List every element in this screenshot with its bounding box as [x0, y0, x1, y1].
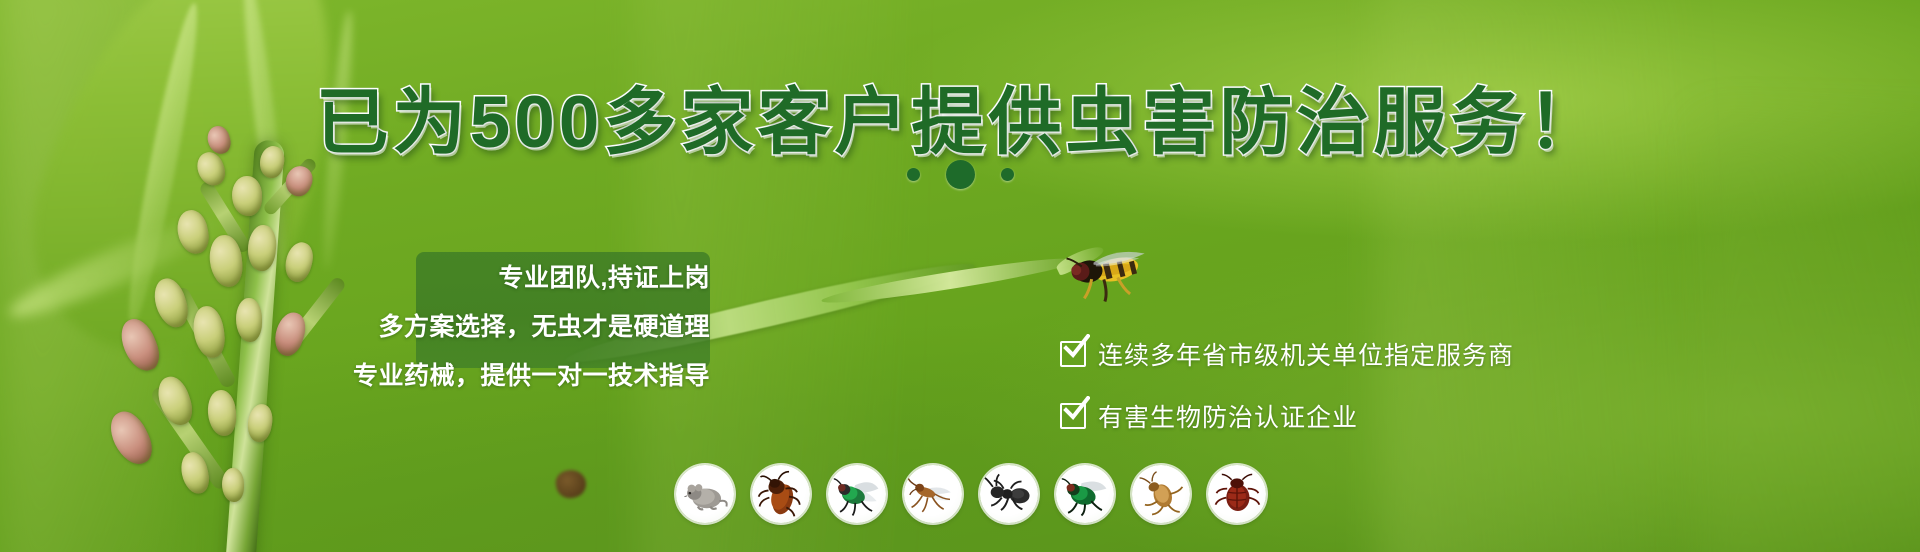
housefly-icon: 苍蝇 — [828, 465, 886, 523]
dot-small-icon — [907, 168, 920, 181]
feature-line-3: 专业药械，提供一对一技术指导 — [353, 356, 710, 392]
greenfly-icon: 绿头蝇 — [1056, 465, 1114, 523]
bedbug-icon: 臭虫 — [1208, 465, 1266, 523]
dot-small-icon2 — [1001, 168, 1014, 181]
checklist-item-label: 有害生物防治认证企业 — [1098, 398, 1358, 434]
feature-line-2: 多方案选择，无虫才是硬道理 — [378, 307, 710, 343]
flea-icon: 跳蚤 — [1132, 465, 1190, 523]
pest-control-banner: 已为500多家客户提供虫害防治服务！ 专业团队,持证上岗 多方案选择，无虫才是硬… — [0, 0, 1920, 552]
checklist-item: 有害生物防治认证企业 — [1060, 398, 1514, 434]
decorative-dots — [0, 160, 1920, 189]
ant-icon: 螞蚁 — [980, 465, 1038, 523]
checklist-item: 连续多年省市级机关单位指定服务商 — [1060, 336, 1514, 372]
pest-icon-row: 老鼠 蟑螂 — [676, 465, 1266, 523]
checkbox-checked-icon — [1060, 403, 1086, 429]
checklist: 连续多年省市级机关单位指定服务商 有害生物防治认证企业 — [1060, 336, 1514, 434]
mosquito-icon: 蚊子 — [904, 465, 962, 523]
features-panel-text: 专业团队,持证上岗 多方案选择，无虫才是硬道理 专业药械，提供一对一技术指导 — [330, 258, 730, 392]
page-title: 已为500多家客户提供虫害防治服务！ — [0, 86, 1920, 159]
cockroach-icon: 蟑螂 — [752, 465, 810, 523]
checkbox-checked-icon — [1060, 341, 1086, 367]
dot-large-icon — [946, 160, 975, 189]
checklist-item-label: 连续多年省市级机关单位指定服务商 — [1098, 336, 1514, 372]
page-title-text: 已为500多家客户提供虫害防治服务！ — [316, 82, 1605, 163]
mouse-icon: 老鼠 — [676, 465, 734, 523]
feature-line-1: 专业团队,持证上岗 — [499, 258, 710, 294]
